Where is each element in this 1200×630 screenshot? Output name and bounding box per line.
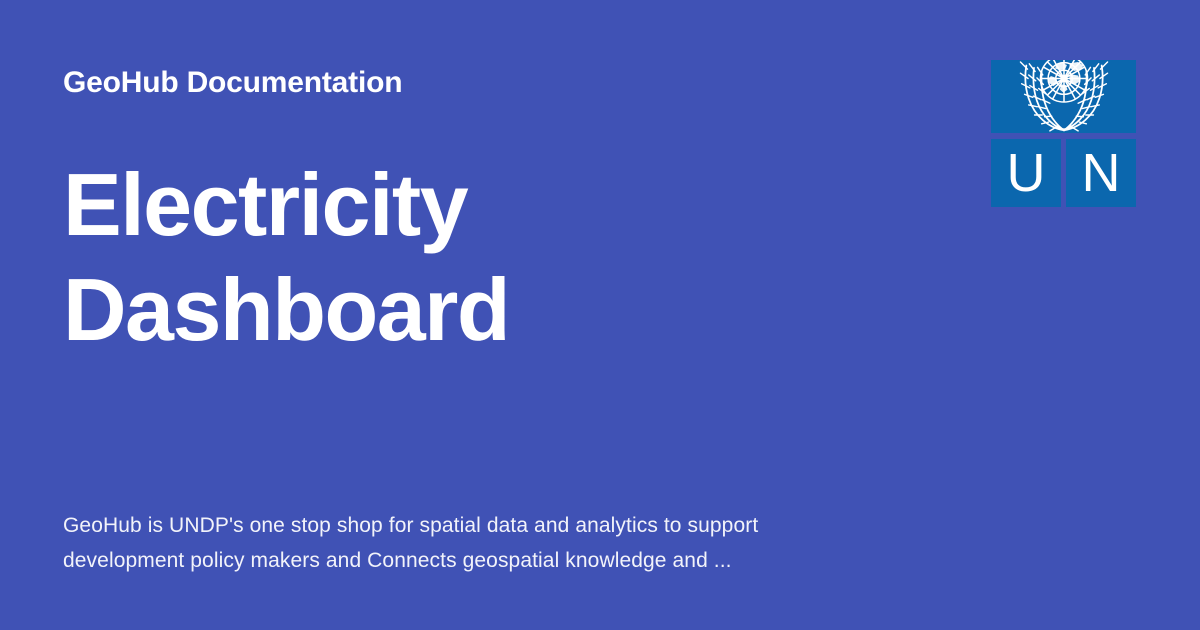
page-description: GeoHub is UNDP's one stop shop for spati…: [63, 508, 863, 578]
un-letter-n-box: N: [1066, 139, 1136, 207]
un-emblem-globe-wreath-icon: [1005, 60, 1123, 133]
content-column: GeoHub Documentation Electricity Dashboa…: [63, 0, 923, 630]
site-title: GeoHub Documentation: [63, 64, 402, 102]
un-letter-u-box: U: [991, 139, 1061, 207]
og-card: GeoHub Documentation Electricity Dashboa…: [0, 0, 1200, 630]
page-title: Electricity Dashboard: [63, 152, 763, 362]
un-emblem-box: [991, 60, 1136, 133]
un-logo: U N: [991, 60, 1136, 207]
